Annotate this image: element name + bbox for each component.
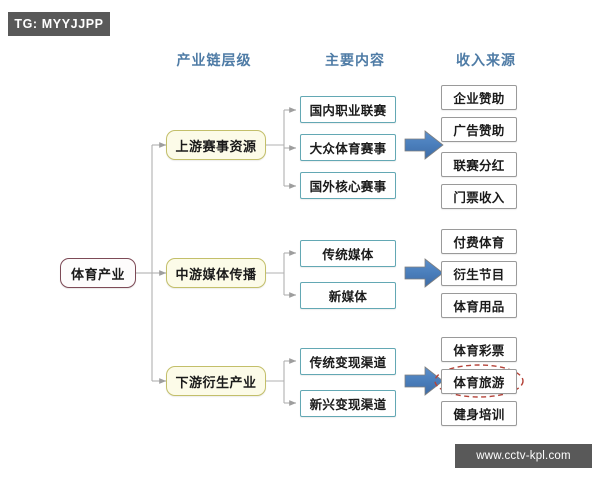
column-header-main-content: 主要内容 bbox=[316, 50, 394, 70]
block-arrow-2 bbox=[405, 259, 443, 287]
watermark-site-url: www.cctv-kpl.com bbox=[455, 444, 592, 468]
revenue-node-paid-sports[interactable]: 付费体育 bbox=[441, 229, 517, 254]
content-node-mass-sports-events[interactable]: 大众体育赛事 bbox=[300, 134, 396, 161]
diagram-canvas: 产业链层级 主要内容 收入来源 体育产业 上游赛事资源 中游媒体传播 下游衍生产… bbox=[0, 0, 600, 480]
content-node-overseas-core-events[interactable]: 国外核心赛事 bbox=[300, 172, 396, 199]
revenue-node-ticket-income[interactable]: 门票收入 bbox=[441, 184, 517, 209]
revenue-node-sports-lottery[interactable]: 体育彩票 bbox=[441, 337, 517, 362]
branch-2-connectors bbox=[266, 253, 296, 295]
root-node-sports-industry[interactable]: 体育产业 bbox=[60, 258, 136, 288]
content-node-domestic-pro-league[interactable]: 国内职业联赛 bbox=[300, 96, 396, 123]
revenue-node-sporting-goods[interactable]: 体育用品 bbox=[441, 293, 517, 318]
revenue-node-fitness-training[interactable]: 健身培训 bbox=[441, 401, 517, 426]
block-arrow-3 bbox=[405, 367, 443, 395]
revenue-node-derivative-programs[interactable]: 衍生节目 bbox=[441, 261, 517, 286]
revenue-node-corporate-sponsorship[interactable]: 企业赞助 bbox=[441, 85, 517, 110]
branch-3-connectors bbox=[266, 361, 296, 403]
content-node-new-media[interactable]: 新媒体 bbox=[300, 282, 396, 309]
branch-node-downstream[interactable]: 下游衍生产业 bbox=[166, 366, 266, 396]
content-node-traditional-monetization[interactable]: 传统变现渠道 bbox=[300, 348, 396, 375]
watermark-telegram: TG: MYYJJPP bbox=[8, 12, 110, 36]
column-header-industry-chain-level: 产业链层级 bbox=[168, 50, 260, 70]
branch-1-connectors bbox=[266, 110, 296, 186]
content-node-emerging-monetization[interactable]: 新兴变现渠道 bbox=[300, 390, 396, 417]
column-header-revenue-source: 收入来源 bbox=[447, 50, 525, 70]
revenue-node-sports-tourism[interactable]: 体育旅游 bbox=[441, 369, 517, 394]
root-trunk-connectors bbox=[136, 145, 166, 381]
content-node-traditional-media[interactable]: 传统媒体 bbox=[300, 240, 396, 267]
revenue-node-advertising-sponsorship[interactable]: 广告赞助 bbox=[441, 117, 517, 142]
branch-node-midstream[interactable]: 中游媒体传播 bbox=[166, 258, 266, 288]
block-arrow-1 bbox=[405, 131, 443, 159]
block-arrow-group bbox=[405, 131, 443, 395]
branch-node-upstream[interactable]: 上游赛事资源 bbox=[166, 130, 266, 160]
revenue-node-league-dividends[interactable]: 联赛分红 bbox=[441, 152, 517, 177]
